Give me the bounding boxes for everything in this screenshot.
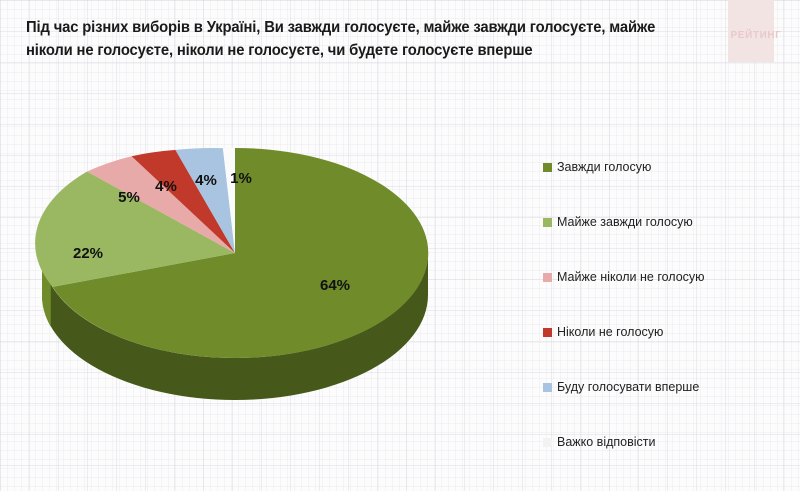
legend-swatch-icon <box>543 273 552 282</box>
slice-label-1: 1% <box>230 170 252 187</box>
legend-swatch-icon <box>543 328 552 337</box>
legend-swatch-icon <box>543 438 552 447</box>
slice-label-4-never: 4% <box>155 178 177 195</box>
slice-label-4-first-time: 4% <box>195 172 217 189</box>
legend-label: Майже ніколи не голосую <box>557 270 705 284</box>
slice-label-64: 64% <box>320 277 350 294</box>
legend-label: Ніколи не голосую <box>557 325 663 339</box>
slice-label-5: 5% <box>118 189 140 206</box>
pie-chart: 64% 22% 5% 4% 4% 1% <box>20 140 520 420</box>
legend-label: Буду голосувати вперше <box>557 380 699 394</box>
pie-chart-svg: 64% 22% 5% 4% 4% 1% <box>20 140 520 420</box>
legend-swatch-icon <box>543 218 552 227</box>
legend-label: Майже завжди голосую <box>557 215 693 229</box>
legend-item-never-vote[interactable]: Ніколи не голосую <box>543 325 793 380</box>
watermark-label: РЕЙТИНГ <box>719 30 793 41</box>
legend: Завжди голосую Майже завжди голосую Майж… <box>543 160 793 490</box>
legend-item-almost-never-vote[interactable]: Майже ніколи не голосую <box>543 270 793 325</box>
legend-label: Важко відповісти <box>557 435 656 449</box>
chart-page: РЕЙТИНГ Під час різних виборів в Україні… <box>0 0 800 491</box>
legend-item-hard-to-answer[interactable]: Важко відповісти <box>543 435 793 490</box>
page-title: Під час різних виборів в Україні, Ви зав… <box>26 16 685 62</box>
legend-swatch-icon <box>543 163 552 172</box>
legend-item-always-vote[interactable]: Завжди голосую <box>543 160 793 215</box>
legend-item-almost-always-vote[interactable]: Майже завжди голосую <box>543 215 793 270</box>
slice-label-22: 22% <box>73 245 103 262</box>
legend-item-first-time-voter[interactable]: Буду голосувати вперше <box>543 380 793 435</box>
legend-label: Завжди голосую <box>557 160 651 174</box>
legend-swatch-icon <box>543 383 552 392</box>
